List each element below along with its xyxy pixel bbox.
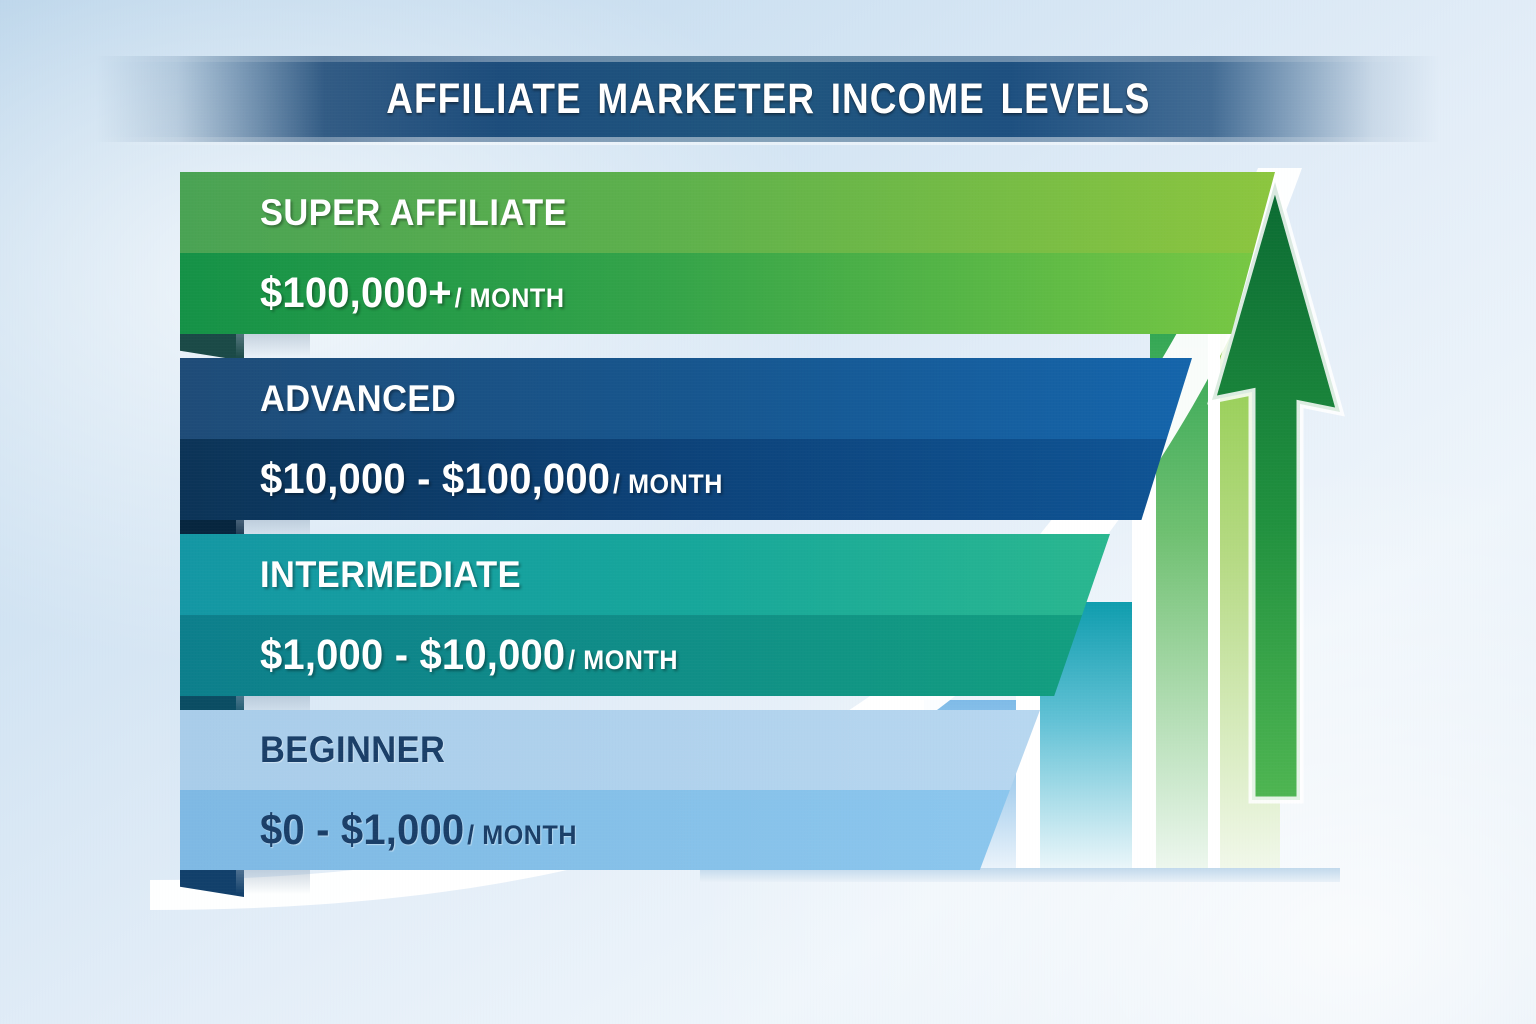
tier-row-super-affiliate[interactable]: SUPER AFFILIATE $100,000+/ MONTH	[180, 172, 1275, 334]
tier-label: INTERMEDIATE	[180, 554, 521, 596]
tier-period: / MONTH	[613, 469, 723, 499]
tier-amount: $0 - $1,000/ MONTH	[180, 806, 577, 855]
tier-label: BEGINNER	[180, 729, 445, 771]
tier-label: ADVANCED	[180, 378, 456, 420]
tier-fold-shadow-super-affiliate	[236, 334, 310, 358]
tier-amount: $10,000 - $100,000/ MONTH	[180, 455, 723, 504]
tier-label-band: BEGINNER	[180, 710, 1040, 790]
tier-amount: $100,000+/ MONTH	[180, 269, 565, 318]
tier-fold-shadow-beginner	[236, 870, 310, 894]
tier-row-beginner[interactable]: BEGINNER $0 - $1,000/ MONTH	[180, 710, 1040, 870]
infographic-canvas: AFFILIATE MARKETER INCOME LEVELS SUPER A…	[0, 0, 1536, 1024]
tier-amount-band: $1,000 - $10,000/ MONTH	[180, 615, 1110, 696]
tier-label: SUPER AFFILIATE	[180, 192, 567, 234]
page-title: AFFILIATE MARKETER INCOME LEVELS	[386, 75, 1150, 124]
tier-period: / MONTH	[467, 820, 577, 850]
tier-fold-beginner	[180, 870, 244, 897]
tier-fold-super-affiliate	[180, 334, 244, 361]
tier-period: / MONTH	[455, 283, 565, 313]
title-banner: AFFILIATE MARKETER INCOME LEVELS	[96, 56, 1440, 142]
tier-row-advanced[interactable]: ADVANCED $10,000 - $100,000/ MONTH	[180, 358, 1192, 520]
tier-amount-band: $100,000+/ MONTH	[180, 253, 1275, 334]
tier-row-intermediate[interactable]: INTERMEDIATE $1,000 - $10,000/ MONTH	[180, 534, 1110, 696]
tier-label-band: SUPER AFFILIATE	[180, 172, 1275, 253]
tier-label-band: ADVANCED	[180, 358, 1192, 439]
tier-amount-band: $0 - $1,000/ MONTH	[180, 790, 1040, 870]
tier-label-band: INTERMEDIATE	[180, 534, 1110, 615]
tier-amount-band: $10,000 - $100,000/ MONTH	[180, 439, 1192, 520]
income-tier-list: SUPER AFFILIATE $100,000+/ MONTH ADVANCE…	[0, 0, 1536, 1024]
tier-amount: $1,000 - $10,000/ MONTH	[180, 631, 678, 680]
tier-period: / MONTH	[568, 645, 678, 675]
